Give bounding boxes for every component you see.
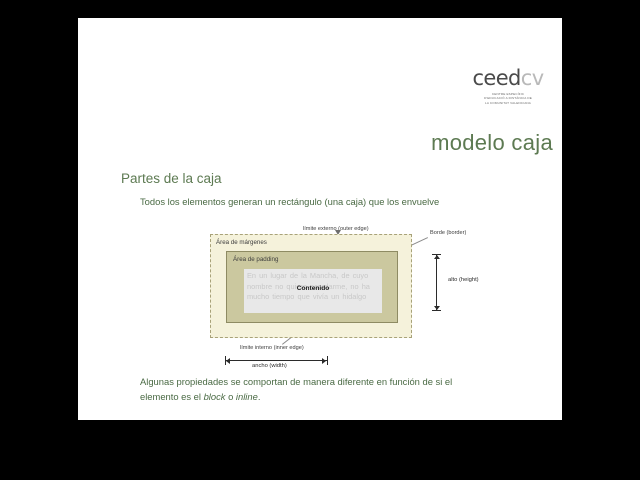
height-arrow-down-icon: [434, 306, 440, 310]
content-area-box: En un lugar de la Mancha, de cuyo nombre…: [244, 269, 382, 313]
width-dimension-line: [225, 360, 327, 361]
logo-word-ceed: ceed: [472, 66, 520, 90]
height-arrow-up-icon: [434, 255, 440, 259]
presentation-slide: ceedcv CENTRE ESPECÍFIC D'EDUCACIÓ A DIS…: [78, 18, 562, 420]
margin-area-box: Área de márgenes Área de padding En un l…: [210, 234, 412, 338]
content-area-label: Contenido: [244, 285, 382, 292]
outro-keyword-inline: inline: [236, 391, 258, 402]
height-dimension-cap-bottom: [432, 310, 441, 311]
slide-title: modelo caja: [431, 130, 553, 156]
box-model-diagram: límite externo (outer edge) Borde (borde…: [140, 210, 540, 370]
width-dimension-label: ancho (width): [252, 363, 287, 369]
logo-wordmark: ceedcv: [463, 68, 553, 89]
video-letterbox-viewport: ceedcv CENTRE ESPECÍFIC D'EDUCACIÓ A DIS…: [0, 0, 640, 480]
margin-area-label: Área de márgenes: [216, 239, 267, 246]
height-dimension-label: alto (height): [448, 277, 479, 283]
outro-text-middle: o: [225, 391, 235, 402]
inner-edge-label: límite interno (inner edge): [240, 345, 304, 351]
outro-text-after: .: [258, 391, 261, 402]
intro-paragraph: Todos los elementos generan un rectángul…: [140, 195, 540, 210]
width-arrow-right-icon: [322, 358, 326, 364]
logo-subtitle: CENTRE ESPECÍFIC D'EDUCACIÓ A DISTÀNCIA …: [463, 92, 553, 105]
padding-area-label: Área de padding: [233, 256, 278, 263]
border-label: Borde (border): [430, 230, 466, 236]
width-dimension-cap-right: [327, 356, 328, 365]
ceedcv-logo: ceedcv CENTRE ESPECÍFIC D'EDUCACIÓ A DIS…: [463, 68, 553, 105]
outro-keyword-block: block: [204, 391, 226, 402]
outro-text-before: Algunas propiedades se comportan de mane…: [140, 376, 452, 402]
logo-word-cv: cv: [521, 66, 544, 90]
section-heading: Partes de la caja: [121, 171, 222, 186]
outro-paragraph: Algunas propiedades se comportan de mane…: [140, 375, 485, 404]
height-dimension-line: [436, 254, 437, 310]
width-arrow-left-icon: [226, 358, 230, 364]
logo-subtitle-line-3: LA COMUNITAT VALENCIANA: [463, 101, 553, 105]
padding-area-box: Área de padding En un lugar de la Mancha…: [226, 251, 398, 323]
